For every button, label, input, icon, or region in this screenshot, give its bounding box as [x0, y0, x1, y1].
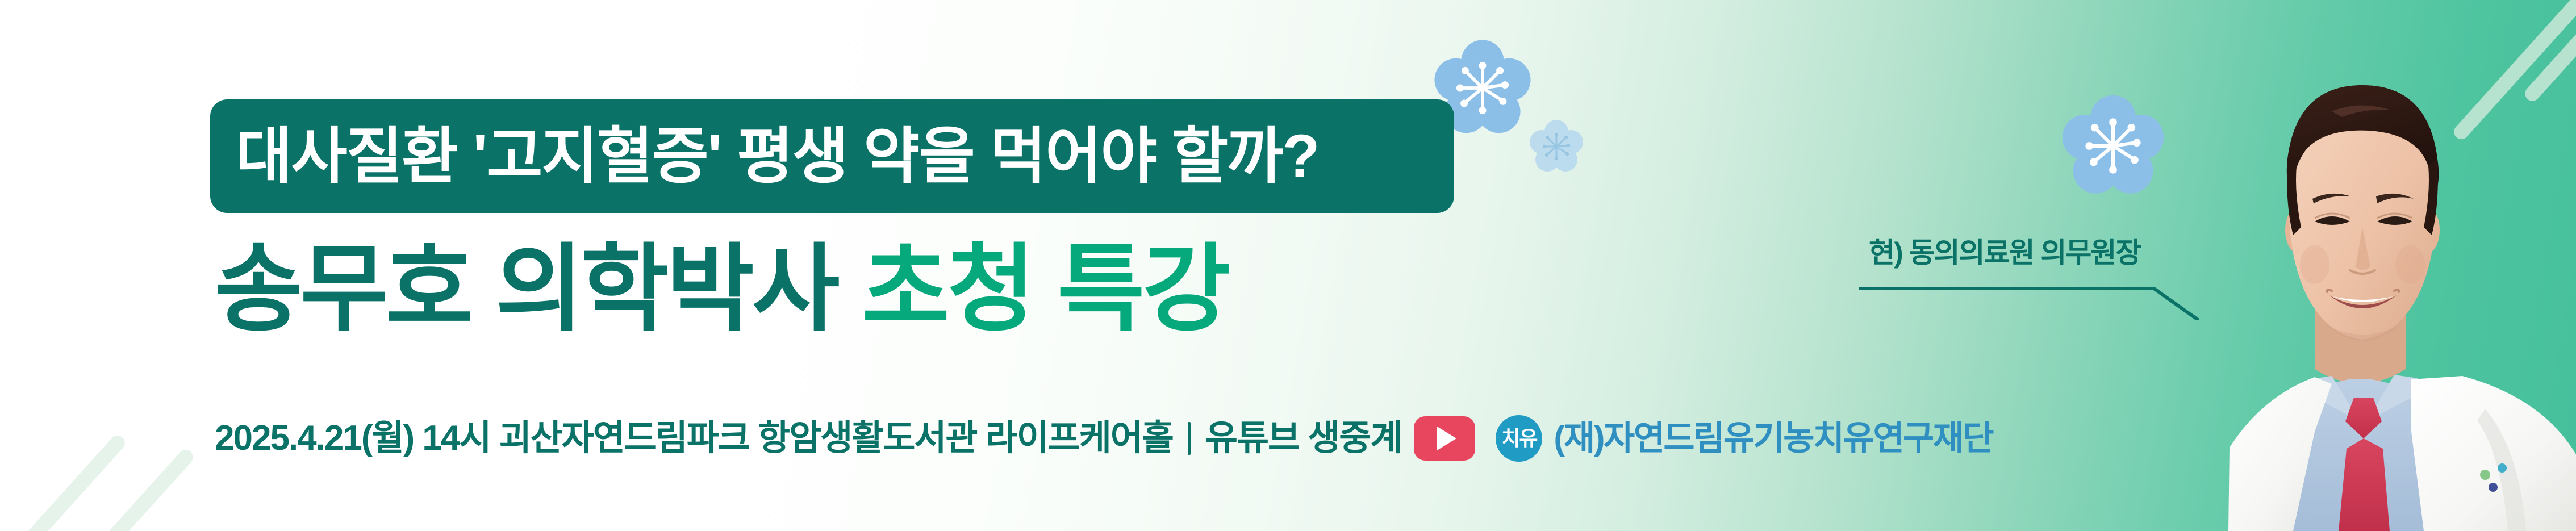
event-datetime-venue: 2025.4.21(월) 14시 괴산자연드림파크 항암생활도서관 라이프케어홀 [215, 421, 1173, 456]
headline-question-text: 대사질환 '고지혈증' 평생 약을 먹어야 할까? [236, 126, 1431, 187]
event-info-line: 2025.4.21(월) 14시 괴산자연드림파크 항암생활도서관 라이프케어홀… [215, 413, 1993, 463]
broadcast-label: 유튜브 생중계 [1205, 421, 1401, 456]
headline-banner-pill: 대사질환 '고지혈증' 평생 약을 먹어야 할까? [210, 99, 1454, 213]
diagonal-stroke-icon [0, 433, 128, 531]
foundation-name: (재)자연드림유기농치유연구재단 [1554, 421, 1993, 455]
page-title: 송무호 의학박사 초청 특강 [215, 241, 1228, 337]
play-triangle-icon [1437, 427, 1456, 450]
info-separator [1188, 422, 1191, 455]
foundation-logo: 치유 (재)자연드림유기농치유연구재단 [1496, 415, 1993, 462]
speaker-credential-text: 현) 동의의료원 의무원장 [1869, 237, 2140, 269]
plum-blossom-icon [1528, 118, 1585, 175]
youtube-play-icon[interactable] [1414, 416, 1475, 461]
page-title-speaker: 송무호 의학박사 [215, 236, 838, 342]
speaker-credential: 현) 동의의료원 의무원장 [1869, 239, 2140, 267]
speaker-portrait [2144, 0, 2576, 531]
event-promo-banner: 대사질환 '고지혈증' 평생 약을 먹어야 할까? 송무호 의학박사 초청 특강… [0, 0, 2576, 531]
page-title-event: 초청 특강 [838, 236, 1229, 342]
foundation-mark-icon: 치유 [1496, 415, 1542, 462]
